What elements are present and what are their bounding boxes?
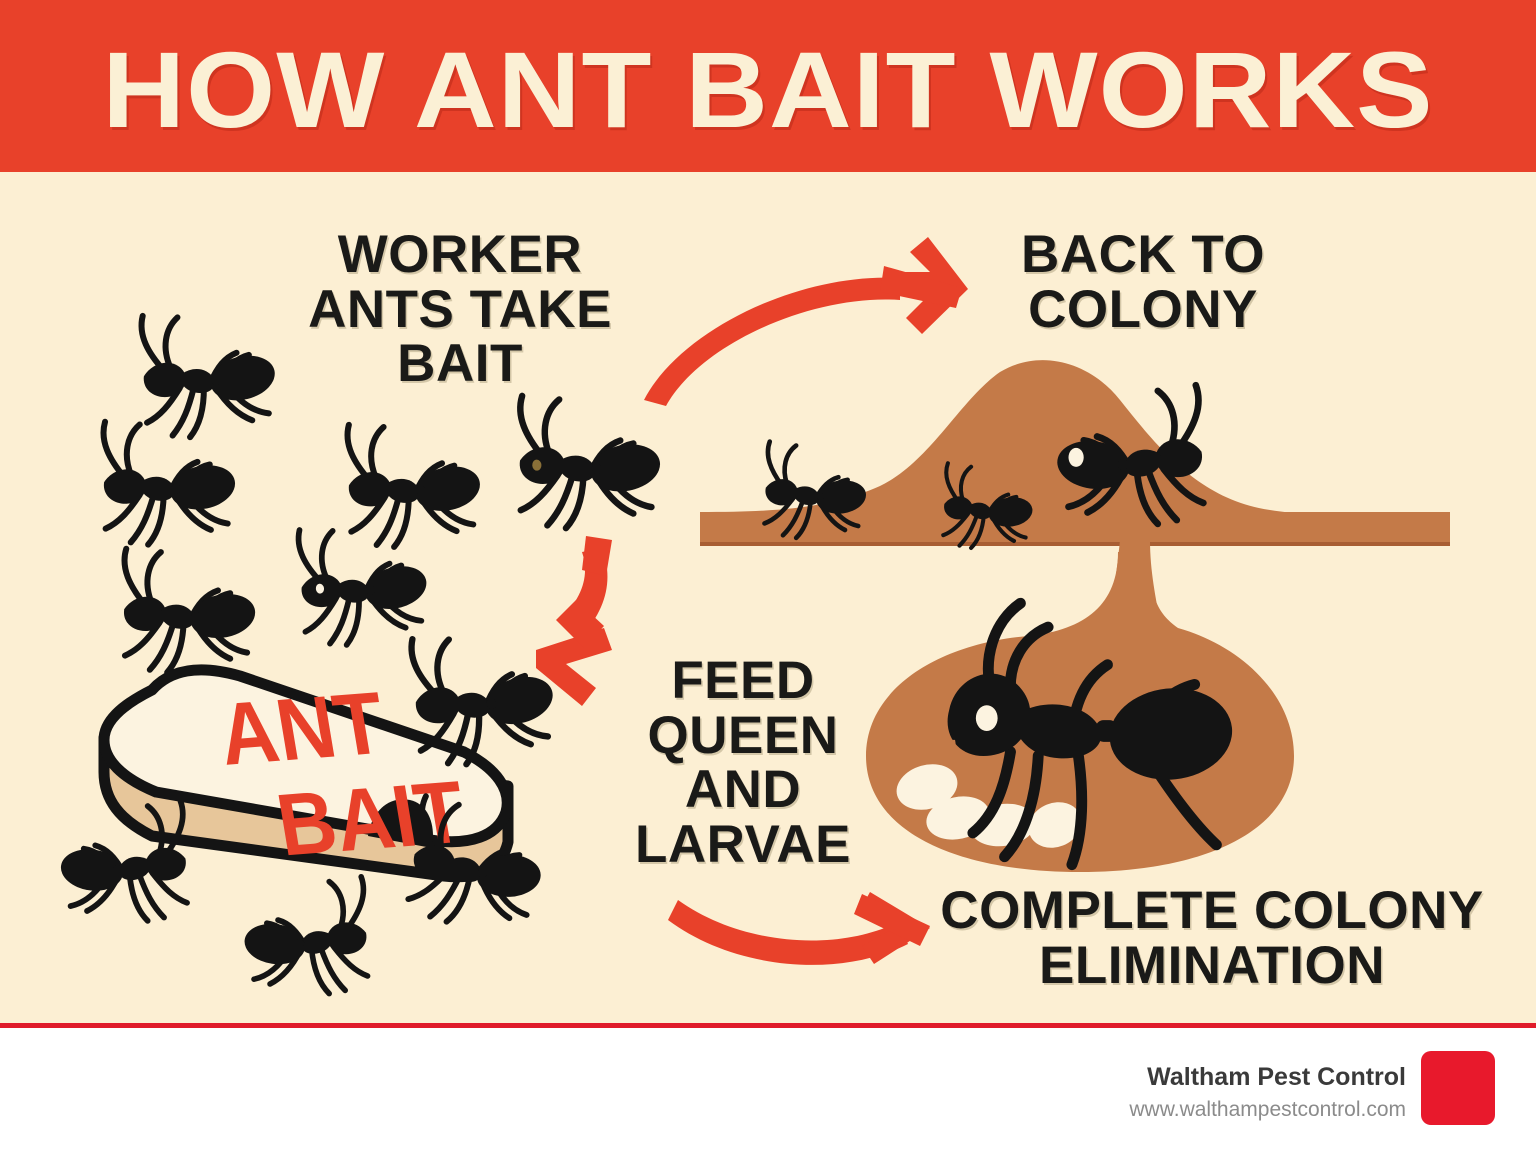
label-back-to-colony: BACK TO COLONY <box>953 228 1333 337</box>
footer-logo[interactable] <box>1421 1051 1495 1125</box>
footer-website-url[interactable]: www.walthampestcontrol.com <box>1129 1098 1406 1122</box>
label-worker-ants-take-bait: WORKER ANTS TAKE BAIT <box>250 228 670 392</box>
infographic-poster: HOW ANT BAIT WORKS <box>0 0 1536 1154</box>
footer-brand-name: Waltham Pest Control <box>1147 1063 1406 1092</box>
label-complete-colony-elimination: COMPLETE COLONY ELIMINATION <box>912 884 1512 993</box>
label-feed-queen-and-larvae: FEED QUEEN AND LARVAE <box>598 654 888 872</box>
page-title: HOW ANT BAIT WORKS <box>0 34 1536 146</box>
